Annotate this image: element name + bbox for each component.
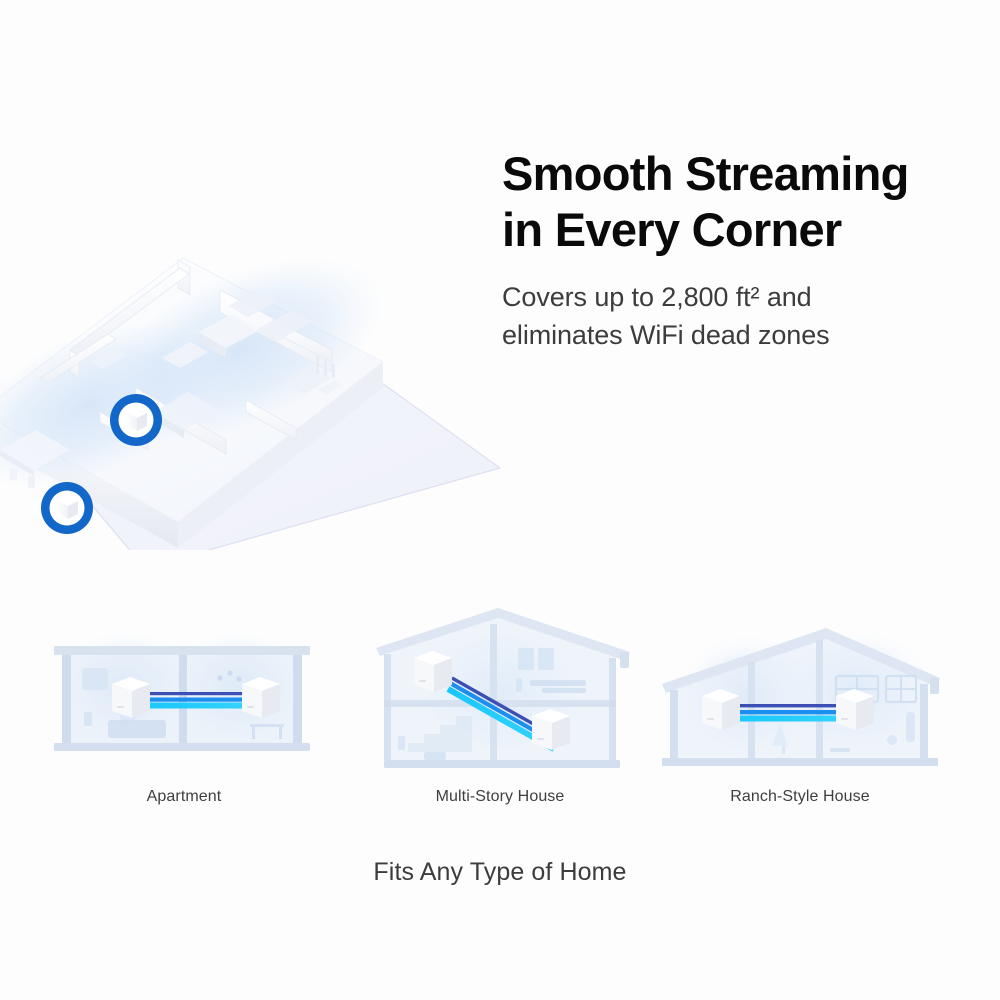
- home-types-caption: Fits Any Type of Home: [0, 858, 1000, 887]
- ranch-mesh-unit-1: [702, 689, 740, 730]
- home-types-row: Apartment: [0, 600, 1000, 840]
- mesh-unit-marker-2: [41, 482, 93, 534]
- apartment-mesh-beam: [136, 692, 258, 709]
- mesh-unit-marker-1: [110, 394, 162, 446]
- multi-story-mesh-unit-1: [414, 651, 452, 692]
- hero-subtitle: Covers up to 2,800 ft² and eliminates Wi…: [502, 278, 982, 354]
- home-type-label: Multi-Story House: [340, 788, 660, 806]
- home-type-label: Ranch-Style House: [640, 788, 960, 806]
- apartment-mesh-unit-1: [112, 677, 150, 718]
- home-type-card-multi-story: Multi-Story House: [340, 600, 660, 830]
- multi-story-house-illustration: [340, 600, 660, 775]
- apartment-mesh-unit-2: [242, 677, 280, 718]
- hero-title: Smooth Streaming in Every Corner: [502, 146, 982, 258]
- ranch-mesh-unit-2: [836, 689, 874, 730]
- apartment-illustration: [24, 600, 344, 775]
- home-type-card-ranch: Ranch-Style House: [640, 600, 960, 830]
- ranch-mesh-beam: [726, 704, 852, 722]
- ranch-style-house-illustration: [640, 600, 960, 775]
- home-type-card-apartment: Apartment: [24, 600, 344, 830]
- hero-copy-block: Smooth Streaming in Every Corner Covers …: [502, 146, 982, 354]
- promo-graphic: Smooth Streaming in Every Corner Covers …: [0, 0, 1000, 1000]
- hero-floorplan-illustration: [0, 150, 500, 550]
- home-type-label: Apartment: [24, 788, 344, 806]
- multi-story-mesh-unit-2: [532, 709, 570, 750]
